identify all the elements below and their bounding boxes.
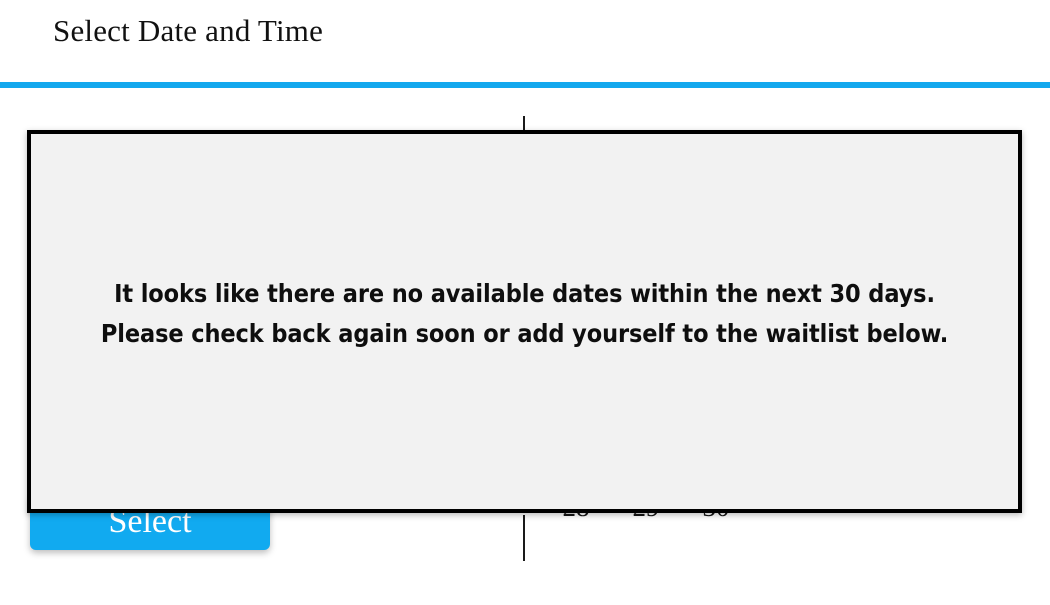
notice-message: It looks like there are no available dat… <box>31 274 1018 354</box>
app-root: Select Date and Time 28 29 30 Select It … <box>0 0 1050 605</box>
notice-message-line-2: Please check back again soon or add your… <box>31 314 1018 354</box>
no-availability-notice-panel: It looks like there are no available dat… <box>27 130 1022 513</box>
page-title: Select Date and Time <box>53 13 323 49</box>
column-divider-bottom <box>523 515 525 561</box>
notice-message-line-1: It looks like there are no available dat… <box>31 274 1018 314</box>
